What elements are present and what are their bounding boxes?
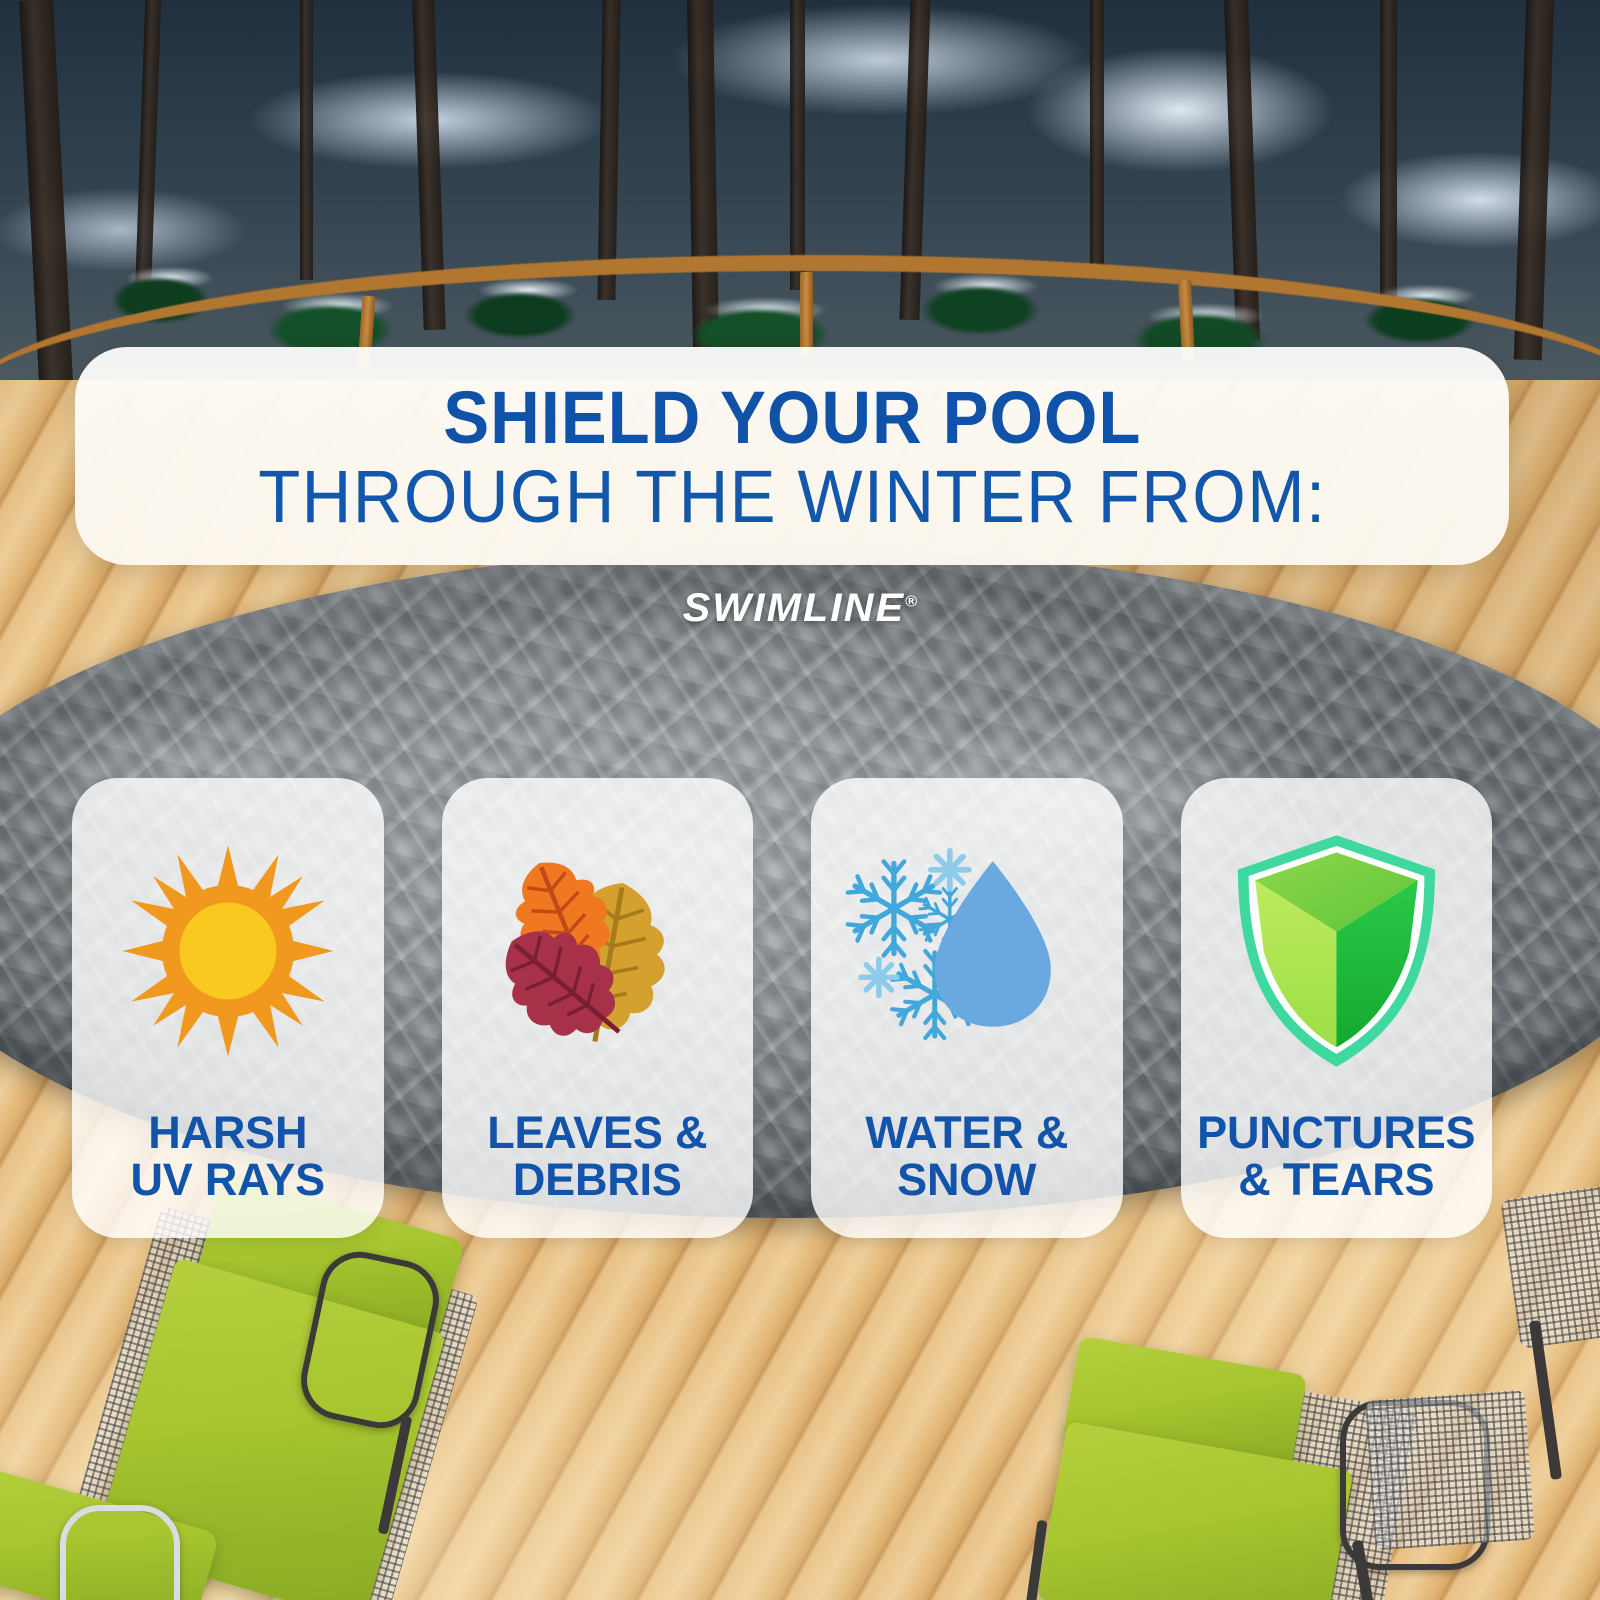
sun-icon [118,841,338,1061]
feature-label-uv: HARSH UV RAYS [52,1109,404,1204]
lounge-chair-left [0,1195,600,1600]
leaves-icon [482,836,712,1066]
registered-trademark-icon: ® [905,594,917,611]
feature-card-uv[interactable]: HARSH UV RAYS [72,778,384,1238]
railing-post [800,272,813,356]
sun-icon-wrap [72,826,384,1076]
leaves-icon-wrap [442,826,754,1076]
headline-line-1: SHIELD YOUR POOL [443,382,1141,455]
feature-label-leaves: LEAVES & DEBRIS [422,1109,774,1204]
chair-frame [60,1505,180,1600]
swimline-logo-text: SWIMLINE [683,586,905,630]
headline-banner: SHIELD YOUR POOL THROUGH THE WINTER FROM… [75,347,1509,565]
shield-icon-wrap [1181,826,1493,1076]
snow-water-icon [842,844,1092,1059]
snowflake-mini-icon [931,850,969,888]
chair-mesh [1500,1181,1600,1349]
shield-icon [1229,831,1444,1071]
feature-label-water: WATER & SNOW [791,1109,1143,1204]
feature-card-leaves[interactable]: LEAVES & DEBRIS [442,778,754,1238]
feature-label-punctures: PUNCTURES & TEARS [1161,1109,1513,1204]
feature-card-punctures[interactable]: PUNCTURES & TEARS [1181,778,1493,1238]
lounge-chair-right [1010,1340,1570,1600]
feature-card-water[interactable]: WATER & SNOW [811,778,1123,1238]
swimline-logo: SWIMLINE® [0,586,1600,631]
lounge-chair-far-right [1500,1180,1600,1540]
promo-graphic: SHIELD YOUR POOL THROUGH THE WINTER FROM… [0,0,1600,1600]
snow-water-icon-wrap [811,826,1123,1076]
snowflake-mini-icon [861,959,897,995]
headline-line-2: THROUGH THE WINTER FROM: [258,459,1326,534]
feature-card-list: HARSH UV RAYS [72,778,1492,1238]
